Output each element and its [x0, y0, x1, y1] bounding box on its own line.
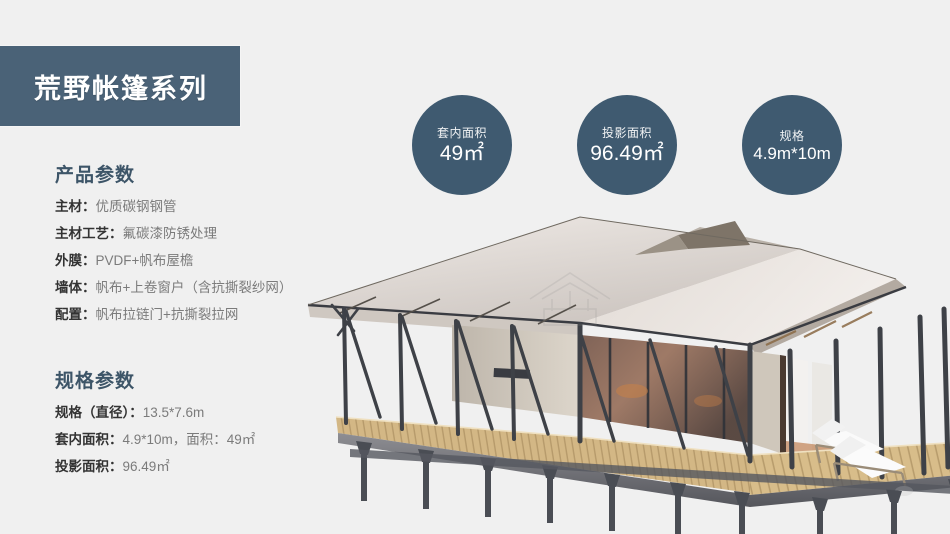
spec-label: 规格（直径）： [55, 405, 143, 420]
title-banner: 荒野帐篷系列 [0, 46, 240, 126]
spec-value: 4.9*10m，面积：49㎡ [123, 432, 256, 447]
spec-label: 投影面积： [55, 459, 123, 474]
stat-value: 49㎡ [440, 142, 484, 165]
spec-value: PVDF+帆布屋檐 [96, 253, 194, 268]
spec-label: 套内面积： [55, 432, 123, 447]
product-render-image [280, 205, 950, 534]
spec-value: 13.5*7.6m [143, 405, 205, 420]
spec-label: 外膜： [55, 253, 96, 268]
spec-label: 主材： [55, 199, 96, 214]
spec-value: 优质碳钢钢管 [96, 199, 177, 214]
spec-value: 氟碳漆防锈处理 [123, 226, 218, 241]
spec-value: 帆布+上卷窗户（含抗撕裂纱网） [96, 280, 293, 295]
stat-circle-interior-area: 套内面积 49㎡ [412, 95, 512, 195]
stat-label: 套内面积 [437, 124, 487, 141]
stat-label: 投影面积 [602, 124, 652, 141]
stat-label: 规格 [779, 127, 804, 144]
stat-value: 96.49㎡ [590, 142, 664, 165]
section-heading-product: 产品参数 [55, 160, 340, 187]
stat-value: 4.9m*10m [753, 145, 830, 164]
stat-circle-dimensions: 规格 4.9m*10m [742, 95, 842, 195]
page-title: 荒野帐篷系列 [34, 67, 208, 106]
stat-circle-projected-area: 投影面积 96.49㎡ [577, 95, 677, 195]
stat-circle-group: 套内面积 49㎡ 投影面积 96.49㎡ 规格 4.9m*10m [395, 88, 895, 203]
slide-root: 荒野帐篷系列 产品参数 主材：优质碳钢钢管 主材工艺：氟碳漆防锈处理 外膜：PV… [0, 0, 950, 534]
spec-value: 96.49㎡ [123, 459, 170, 474]
spec-label: 配置： [55, 307, 96, 322]
spec-label: 墙体： [55, 280, 96, 295]
spec-value: 帆布拉链门+抗撕裂拉网 [96, 307, 239, 322]
spec-label: 主材工艺： [55, 226, 123, 241]
